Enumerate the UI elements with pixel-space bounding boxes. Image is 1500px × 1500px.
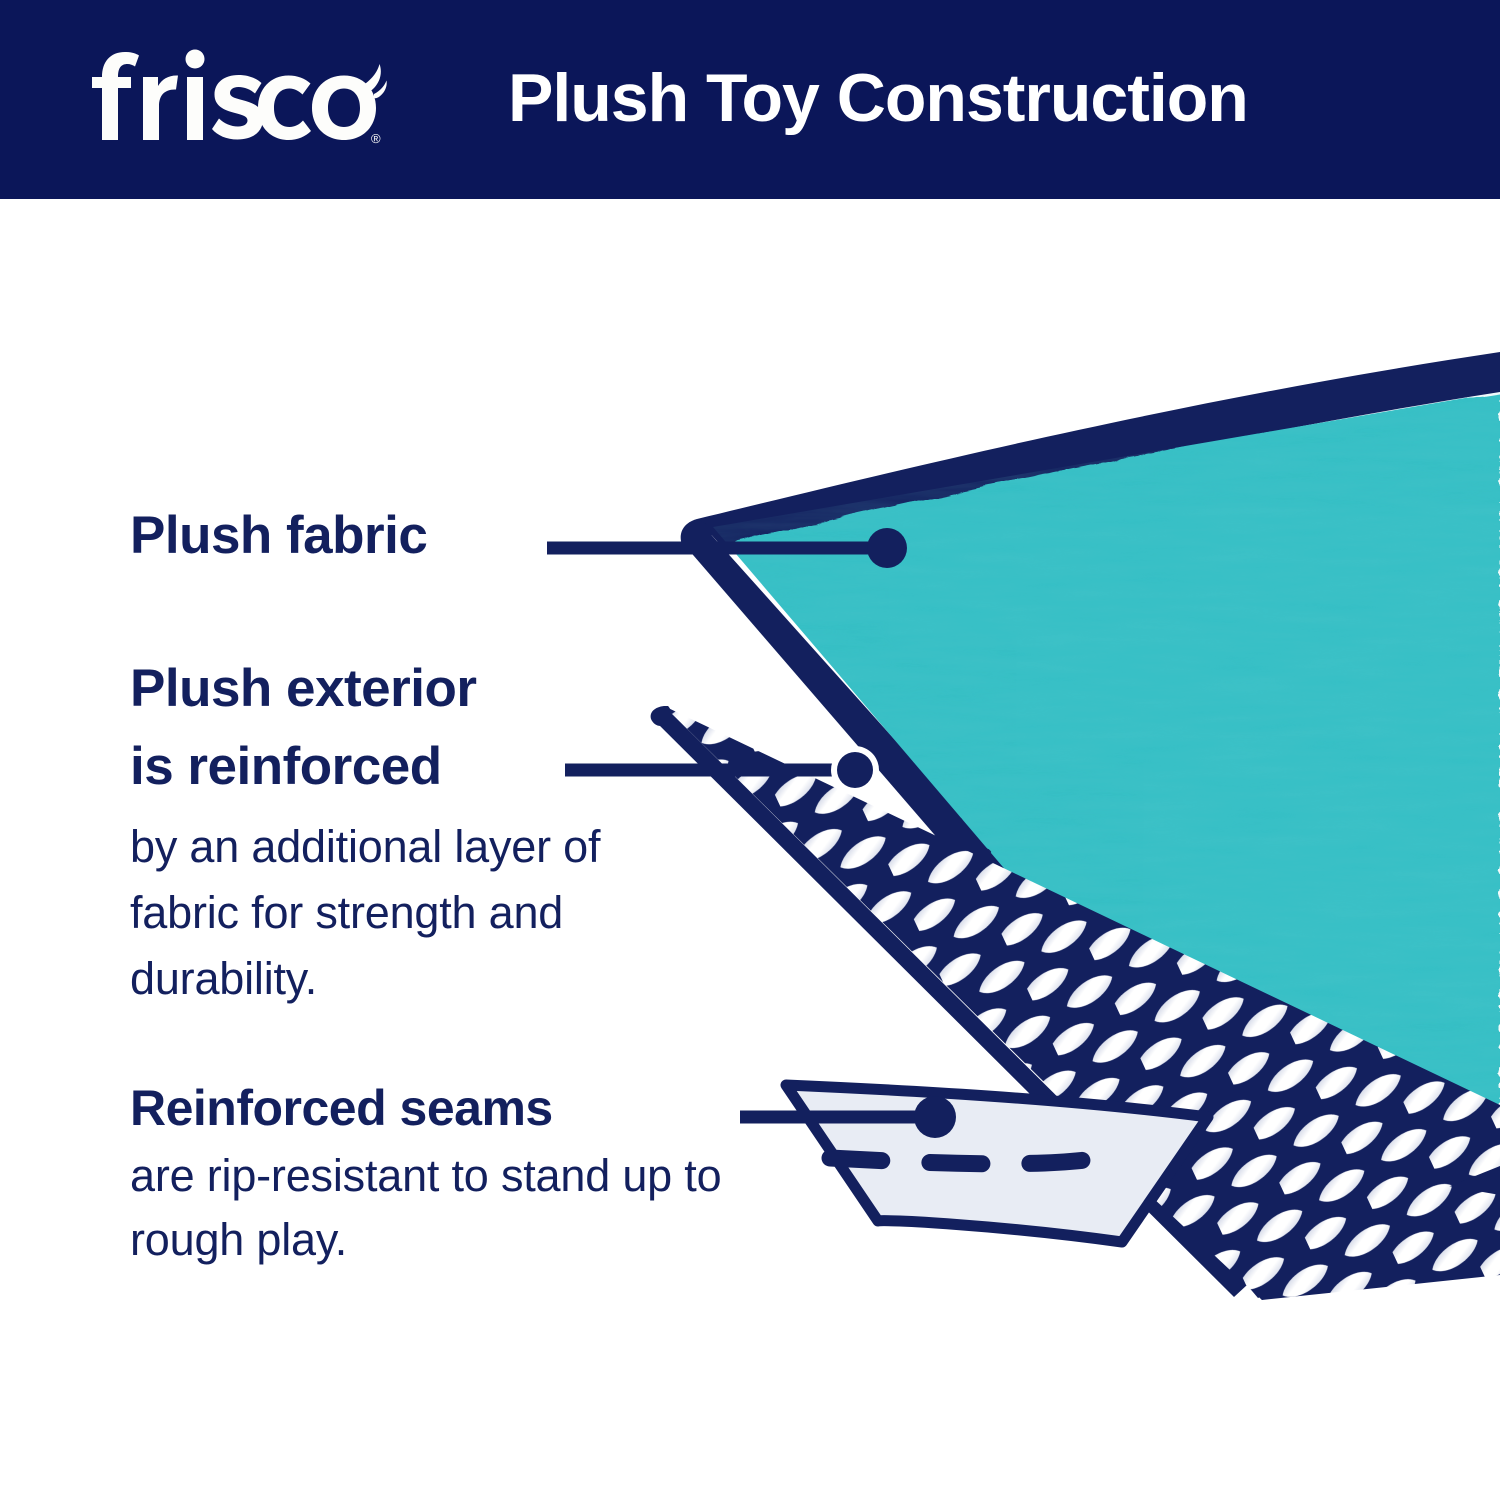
callout-reinforced-seams-heading: Reinforced seams	[130, 1078, 790, 1138]
header-bar: ® Plush Toy Construction	[0, 0, 1500, 199]
page-title: Plush Toy Construction	[508, 50, 1408, 146]
callout-plush-exterior-heading-line-2: is reinforced	[130, 728, 720, 806]
callout-plush-fabric: Plush fabric	[130, 505, 560, 567]
seam-stitch-dashes	[830, 1158, 1100, 1164]
callout-reinforced-seams-body: are rip-resistant to stand up to rough p…	[130, 1144, 790, 1272]
callout-plush-fabric-heading: Plush fabric	[130, 505, 560, 567]
logo-registered-mark: ®	[371, 131, 381, 146]
callout-plush-exterior-heading-line-1: Plush exterior	[130, 650, 720, 728]
callout-reinforced-seams: Reinforced seams are rip-resistant to st…	[130, 1078, 790, 1272]
callout-plush-exterior: Plush exterior is reinforced by an addit…	[130, 650, 720, 1012]
leader-dot-reinforced-seams	[914, 1096, 956, 1138]
leader-dot-plush-exterior	[837, 752, 873, 788]
leader-dot-plush-fabric	[867, 528, 907, 568]
reinforced-seam-flap	[786, 1085, 1208, 1242]
callout-plush-exterior-body: by an additional layer of fabric for str…	[130, 814, 720, 1012]
infographic-page: ® Plush Toy Construction	[0, 0, 1500, 1500]
frisco-logo: ®	[88, 44, 388, 148]
